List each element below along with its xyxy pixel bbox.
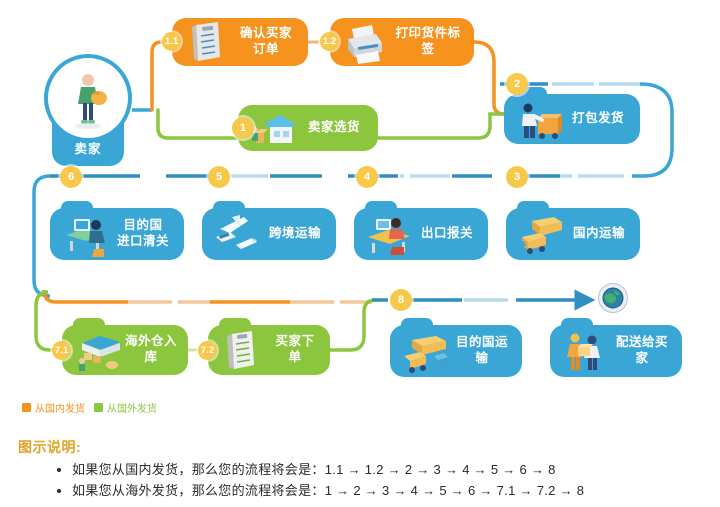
warehouse-house-icon (246, 105, 300, 151)
customs-officer-icon (58, 211, 112, 257)
order-clipboard-icon (216, 327, 270, 373)
node-seller-pick[interactable]: 卖家选货 (238, 105, 378, 151)
printer-icon (338, 19, 392, 65)
node-buyer-order[interactable]: 买家下单 (208, 325, 330, 375)
warehouse-stock-icon (70, 327, 124, 373)
clipboard-checklist-icon (180, 19, 234, 65)
badge-step-4: 4 (356, 166, 378, 188)
node-pack-ship[interactable]: 打包发货 (504, 94, 640, 144)
legend-label: 从国内发货 (35, 400, 85, 415)
badge-step-2: 2 (506, 73, 528, 95)
badge-step-1-1: 1.1 (162, 32, 181, 51)
badge-step-1-2: 1.2 (320, 32, 339, 51)
node-label: 配送给买家 (612, 335, 672, 366)
node-label: 目的国运输 (452, 335, 512, 366)
node-label: 打印货件标签 (392, 26, 464, 57)
seller-person-icon (44, 54, 132, 142)
node-overseas-warehouse[interactable]: 海外仓入库 (62, 325, 188, 375)
node-import-clearance[interactable]: 目的国 进口清关 (50, 208, 184, 260)
node-label: 打包发货 (566, 111, 630, 127)
node-label: 确认买家订单 (234, 26, 298, 57)
node-label: 跨境运输 (264, 226, 326, 242)
badge-step-1: 1 (232, 117, 254, 139)
node-deliver-to-buyer[interactable]: 配送给买家 (550, 325, 682, 377)
badge-step-7-1: 7.1 (52, 341, 71, 360)
badge-step-5: 5 (208, 166, 230, 188)
legend-item-domestic: 从国内发货 (22, 400, 85, 415)
plane-ship-icon (210, 211, 264, 257)
node-confirm-order[interactable]: 确认买家订单 (172, 18, 308, 66)
note-line: 如果您从海外发货，那么您的流程将会是：1 → 2 → 3 → 4 → 5 → 6… (72, 480, 702, 501)
legend: 从国内发货 从国外发货 (22, 400, 157, 415)
worker-packing-icon (512, 96, 566, 142)
node-label: 卖家选货 (300, 120, 368, 136)
node-cross-border-transport[interactable]: 跨境运输 (202, 208, 336, 260)
flowchart-canvas: 卖家 (0, 0, 720, 507)
notes-title: 图示说明: (18, 437, 81, 457)
notes-block: 如果您从国内发货，那么您的流程将会是：1.1 → 1.2 → 2 → 3 → 4… (52, 459, 702, 501)
badge-step-8: 8 (390, 289, 412, 311)
node-label: 目的国 进口清关 (112, 218, 174, 249)
badge-step-6: 6 (60, 166, 82, 188)
node-label: 国内运输 (568, 226, 630, 242)
courier-handoff-icon (558, 328, 612, 374)
node-print-label[interactable]: 打印货件标签 (330, 18, 474, 66)
delivery-trucks-icon (398, 328, 452, 374)
legend-swatch-orange (22, 403, 31, 412)
node-label: 买家下单 (270, 334, 320, 365)
start-node-seller[interactable]: 卖家 (44, 54, 132, 166)
globe-icon (598, 283, 628, 313)
trucks-icon (514, 211, 568, 257)
legend-label: 从国外发货 (107, 400, 157, 415)
node-export-declaration[interactable]: 出口报关 (354, 208, 488, 260)
badge-step-3: 3 (506, 166, 528, 188)
node-label: 出口报关 (416, 226, 478, 242)
node-label: 海外仓入库 (124, 334, 178, 365)
node-domestic-transport[interactable]: 国内运输 (506, 208, 640, 260)
badge-step-7-2: 7.2 (198, 341, 217, 360)
customs-desk-icon (362, 211, 416, 257)
node-destination-transport[interactable]: 目的国运输 (390, 325, 522, 377)
legend-swatch-green (94, 403, 103, 412)
note-line: 如果您从国内发货，那么您的流程将会是：1.1 → 1.2 → 2 → 3 → 4… (72, 459, 702, 480)
legend-item-overseas: 从国外发货 (94, 400, 157, 415)
